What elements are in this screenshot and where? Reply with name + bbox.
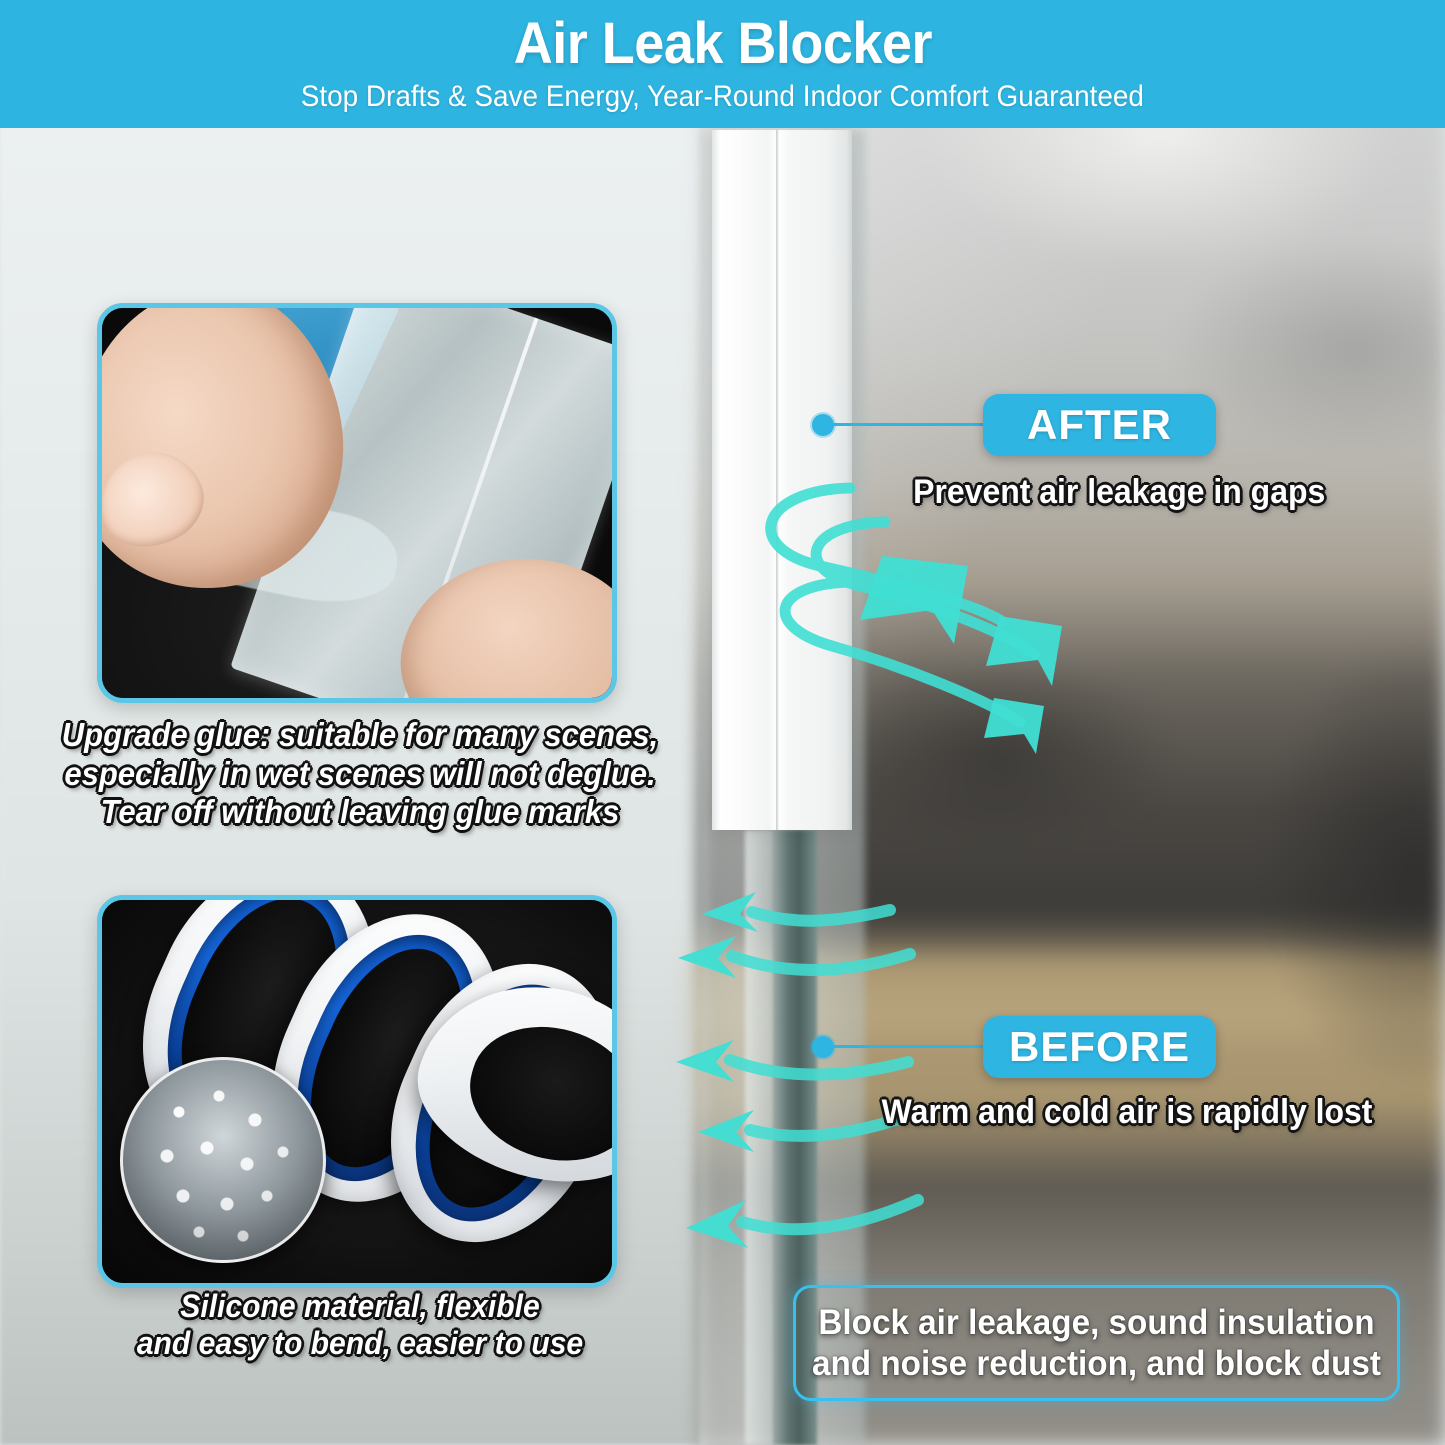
connector-line-before <box>828 1045 986 1048</box>
door-gap-left-edge <box>745 830 775 1445</box>
benefits-box: Block air leakage, sound insulation and … <box>793 1285 1400 1401</box>
page-title: Air Leak Blocker <box>513 14 931 73</box>
caption-adhesive: Upgrade glue: suitable for many scenes,e… <box>59 716 661 832</box>
benefits-text: Block air leakage, sound insulation and … <box>812 1302 1381 1385</box>
header-banner: Air Leak Blocker Stop Drafts & Save Ener… <box>0 0 1445 128</box>
photo-panel-adhesive-peel[interactable] <box>97 303 617 703</box>
page-subtitle: Stop Drafts & Save Energy, Year-Round In… <box>301 80 1144 114</box>
installed-seal-strip <box>712 130 852 830</box>
connector-line-after <box>828 423 986 426</box>
photo-panel-silicone-strips[interactable] <box>97 895 617 1288</box>
benefits-line-1: Block air leakage, sound insulation <box>812 1302 1381 1343</box>
silicone-pellets-inset <box>120 1057 326 1263</box>
benefits-line-2: and noise reduction, and block dust <box>812 1343 1381 1384</box>
badge-after: AFTER <box>983 394 1216 456</box>
caption-after: Prevent air leakage in gaps <box>913 472 1325 513</box>
badge-before: BEFORE <box>983 1016 1216 1078</box>
caption-before: Warm and cold air is rapidly lost <box>882 1092 1373 1133</box>
product-infographic: Air Leak Blocker Stop Drafts & Save Ener… <box>0 0 1445 1445</box>
caption-silicone: Silicone material, flexibleand easy to b… <box>97 1288 623 1363</box>
